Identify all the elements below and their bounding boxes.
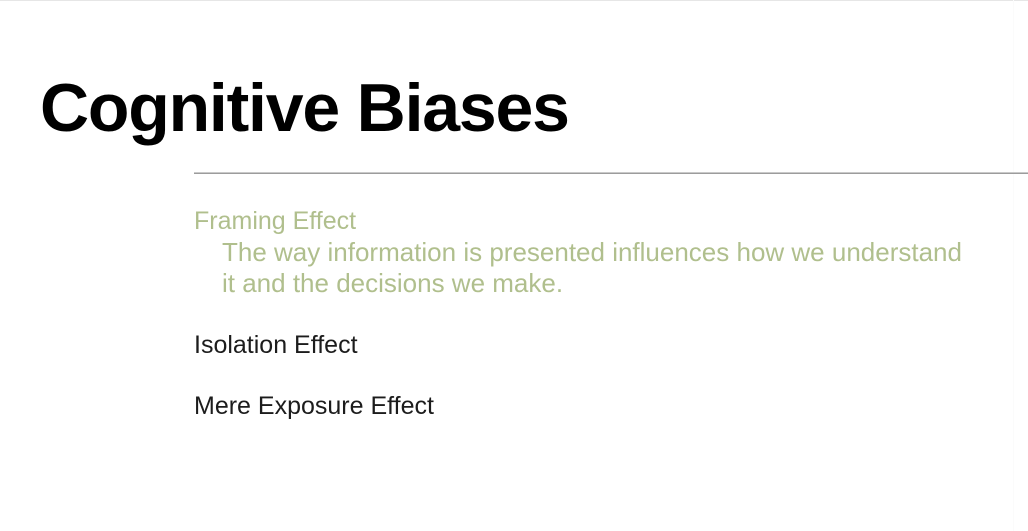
slide-top-border [0,0,1028,1]
bias-list: Framing Effect The way information is pr… [194,206,1014,422]
list-item-framing-effect[interactable]: Framing Effect The way information is pr… [194,206,1014,299]
list-item-isolation-effect[interactable]: Isolation Effect [194,330,1014,361]
page-title: Cognitive Biases [40,74,569,142]
list-item-mere-exposure-effect[interactable]: Mere Exposure Effect [194,391,1014,422]
bias-description-framing-effect: The way information is presented influen… [222,237,1012,299]
presentation-slide: Cognitive Biases Framing Effect The way … [0,0,1028,531]
bias-title-isolation-effect: Isolation Effect [194,330,1014,361]
horizontal-rule-divider [194,172,1028,174]
bias-title-mere-exposure-effect: Mere Exposure Effect [194,391,1014,422]
bias-description-line-2: it and the decisions we make. [222,268,1012,299]
bias-title-framing-effect: Framing Effect [194,206,1014,237]
list-spacer [194,361,1014,391]
list-spacer [194,299,1014,330]
bias-description-line-1: The way information is presented influen… [222,237,1012,268]
